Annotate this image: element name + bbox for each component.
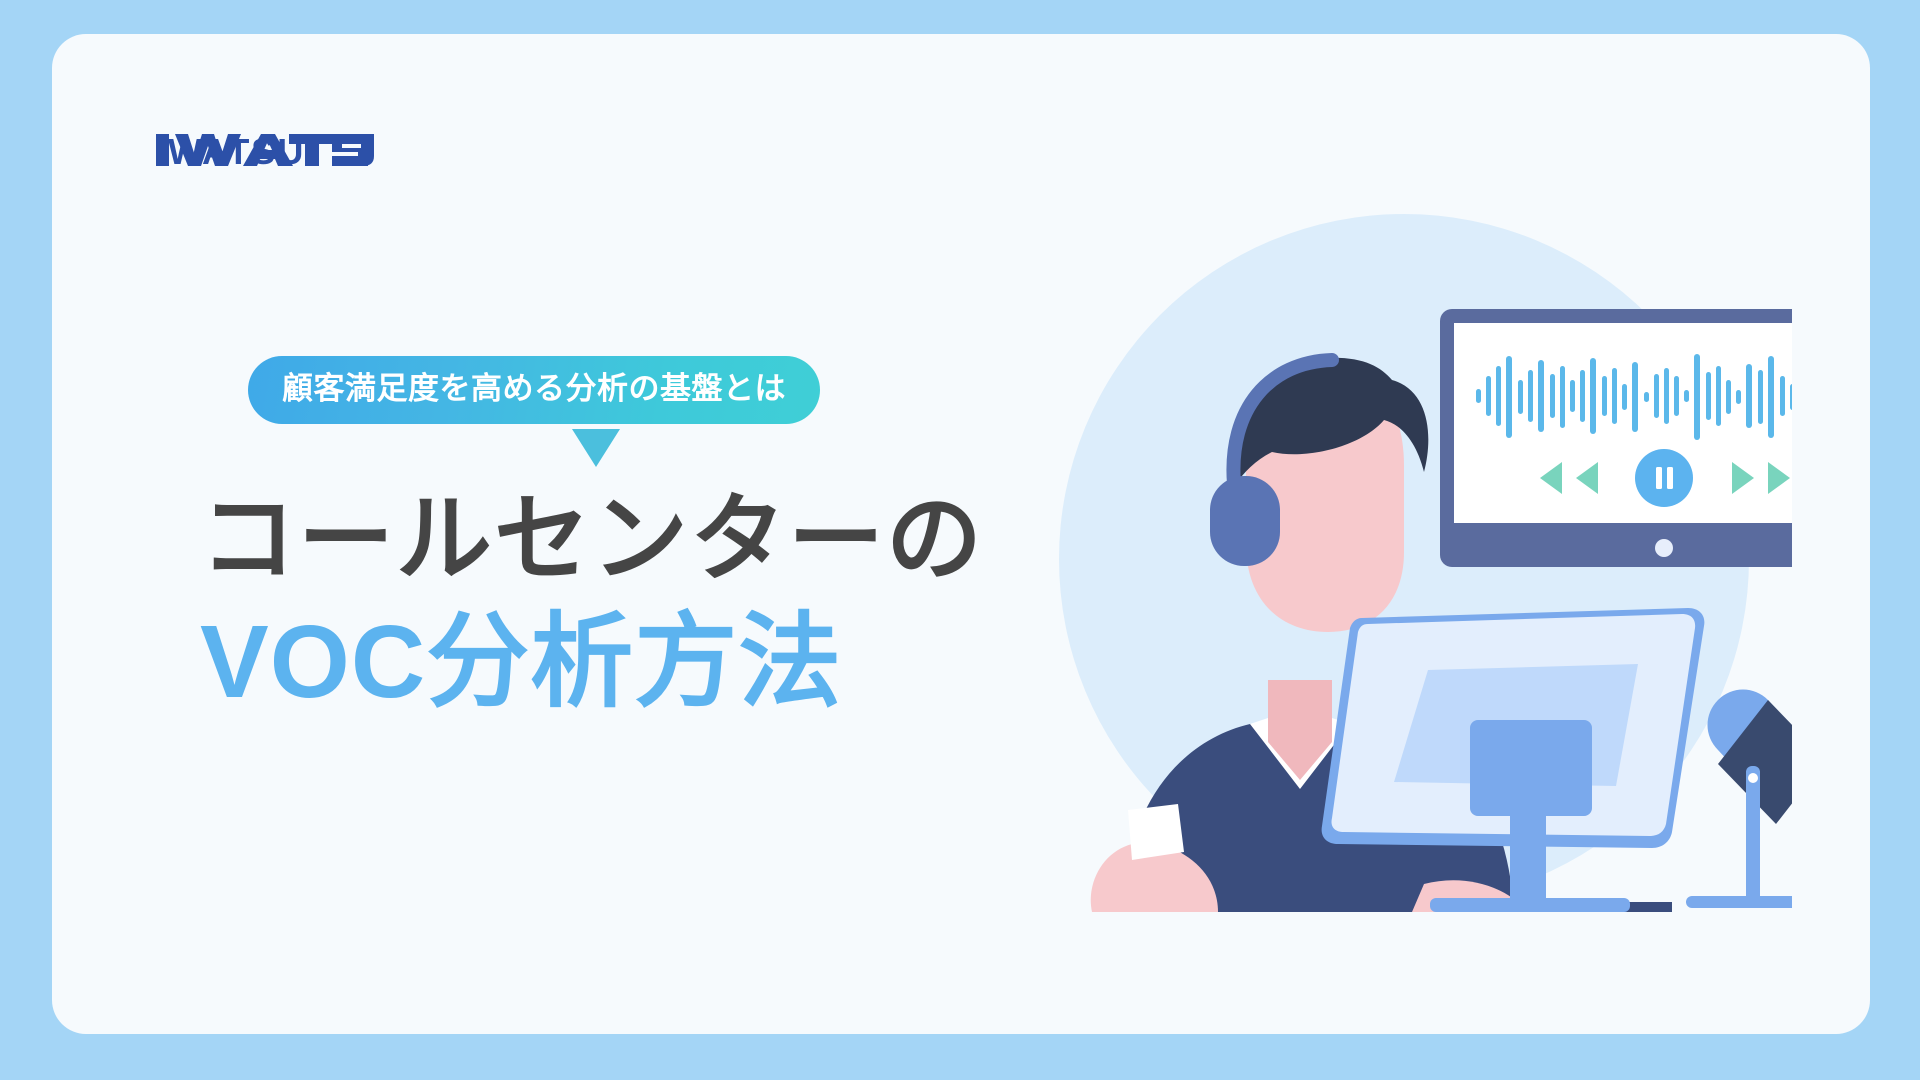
headset-earcup-icon xyxy=(1210,476,1280,566)
tagline-bubble: 顧客満足度を高める分析の基盤とは xyxy=(248,356,820,424)
iwatsu-logo-text: IWATSU xyxy=(156,131,305,170)
iwatsu-logo-mark: IWATSU xyxy=(156,130,376,170)
audio-player-tablet xyxy=(1440,309,1792,567)
pause-button[interactable] xyxy=(1635,449,1693,507)
tablet-home-dot-icon xyxy=(1655,539,1673,557)
microphone-stand-neck xyxy=(1746,766,1760,902)
monitor-stand-base xyxy=(1430,898,1630,912)
illustration-canvas xyxy=(1032,184,1792,944)
iwatsu-logo[interactable]: IWATSU xyxy=(156,130,376,170)
page-title-line-2: VOC分析方法 xyxy=(200,604,984,719)
page-background: IWATSU 顧客満足度を高める分析の基盤とは コールセンターの VOC分析方法 xyxy=(0,0,1920,1080)
monitor-stand-neck xyxy=(1510,784,1546,908)
microphone-pivot-dot-icon xyxy=(1748,773,1758,783)
tagline-bubble-container: 顧客満足度を高める分析の基盤とは xyxy=(248,356,948,466)
page-title-line-1: コールセンターの xyxy=(200,486,984,594)
bubble-tail-icon xyxy=(572,429,620,467)
pause-icon-bar-left xyxy=(1656,467,1662,489)
hero-card: IWATSU 顧客満足度を高める分析の基盤とは コールセンターの VOC分析方法 xyxy=(52,34,1870,1034)
page-title: コールセンターの VOC分析方法 xyxy=(200,486,984,719)
microphone-stand-base xyxy=(1686,896,1792,908)
pause-button-circle xyxy=(1635,449,1693,507)
hero-illustration xyxy=(1032,184,1792,944)
agent-sleeve-cuff xyxy=(1128,804,1184,860)
pause-icon-bar-right xyxy=(1667,467,1673,489)
tagline-text: 顧客満足度を高める分析の基盤とは xyxy=(282,371,786,406)
tablet-screen xyxy=(1454,323,1792,523)
